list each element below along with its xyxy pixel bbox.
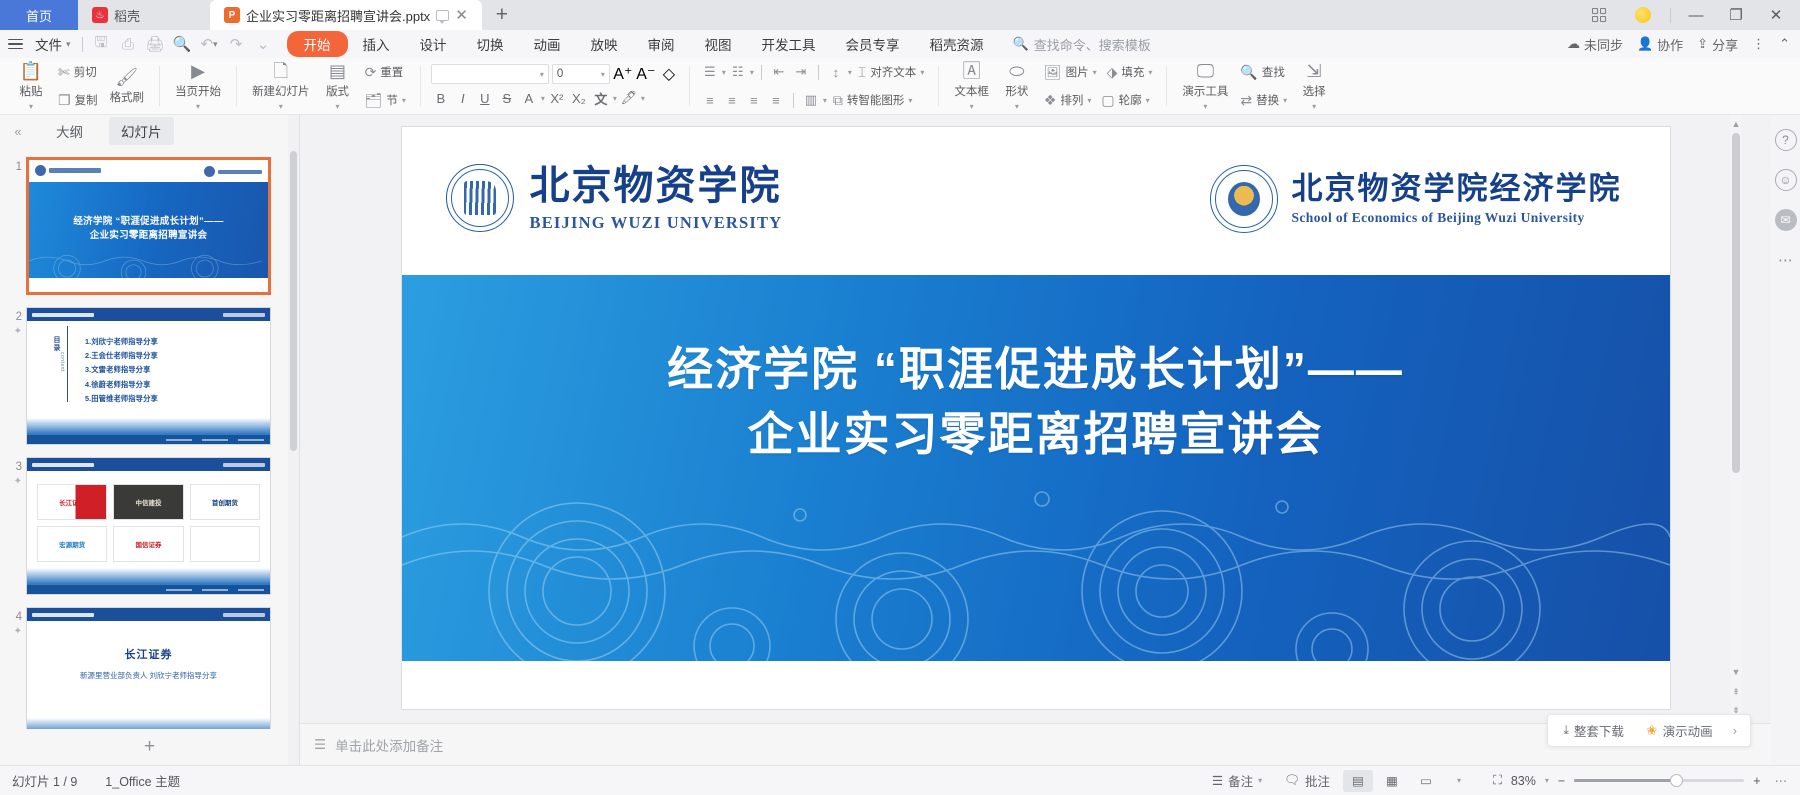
- align-text-icon: ⌶: [858, 65, 866, 79]
- slide-number: 1: [4, 157, 22, 295]
- undo-icon[interactable]: ↶▾: [196, 32, 223, 56]
- slide-thumbnail[interactable]: 目录 content 1.刘欣宁老师指导分享 2.王会仕老师指导分享 3.文雷老…: [26, 307, 271, 445]
- window-tab-bar: 首页 ♨ 稻壳 P 企业实习零距离招聘宣讲会.pptx ✕ + — ❐ ✕: [0, 0, 1800, 30]
- search-icon: 🔍: [1013, 36, 1029, 52]
- superscript-button[interactable]: X²: [547, 88, 567, 108]
- command-search-placeholder: 查找命令、搜索模板: [1034, 35, 1151, 54]
- scrollbar-thumb[interactable]: [1732, 133, 1740, 473]
- section-title: 长江证券: [27, 646, 270, 662]
- zoom-value: 83%: [1511, 774, 1536, 788]
- company-logo: 中信建投: [113, 484, 183, 520]
- account-avatar-icon[interactable]: [1621, 0, 1665, 30]
- font-controls: ▾ 0 ▾ A⁺ A⁻ ◇ B I U S A▾ X² X₂: [431, 60, 679, 112]
- slide-thumbnail-panel: « 大纲 幻灯片 1: [0, 115, 300, 765]
- tab-home-label: 首页: [26, 6, 52, 25]
- toc-item: 2.王会仕老师指导分享: [85, 349, 270, 363]
- more-options-icon[interactable]: ⋮: [1752, 36, 1765, 52]
- font-name-input[interactable]: ▾: [431, 64, 549, 84]
- decrease-indent-icon[interactable]: ⇤: [769, 62, 789, 82]
- floating-slide-toolbar[interactable]: ⤓ 整套下载 ✬ 演示动画 ›: [1547, 714, 1751, 747]
- strikethrough-button[interactable]: S: [497, 88, 517, 108]
- notes-icon: ☰: [1212, 773, 1223, 788]
- shape-label: 形状: [1005, 83, 1028, 99]
- university-name-block: 北京物资学院 BEIJING WUZI UNIVERSITY: [530, 163, 783, 233]
- comment-bubble-icon[interactable]: [436, 10, 449, 21]
- slide-number: 4 ✦: [4, 607, 22, 729]
- file-menu-label: 文件: [35, 34, 62, 54]
- powerpoint-icon: P: [224, 7, 240, 23]
- window-controls: — ❐ ✕: [1577, 0, 1800, 30]
- chevron-down-icon[interactable]: ▾: [1545, 776, 1549, 785]
- thumb-title: 经济学院 “职涯促进成长计划”—— 企业实习零距离招聘宣讲会: [29, 215, 268, 244]
- ribbon-tab-slideshow[interactable]: 放映: [576, 31, 633, 57]
- slide-header: 北京物资学院 BEIJING WUZI UNIVERSITY 北京物资学院经济学…: [402, 127, 1670, 275]
- comment-icon: 🗨: [1284, 773, 1300, 788]
- restore-button[interactable]: ❐: [1716, 0, 1756, 30]
- ribbon-group-slideshow: ▶ 当页开始▾: [165, 59, 231, 114]
- command-search[interactable]: 🔍 查找命令、搜索模板: [1013, 35, 1151, 54]
- collaborate-icon: 👤: [1637, 36, 1653, 52]
- current-slide-canvas[interactable]: 北京物资学院 BEIJING WUZI UNIVERSITY 北京物资学院经济学…: [402, 127, 1670, 709]
- paste-icon: 📋: [20, 62, 42, 80]
- ribbon-group-paragraph: ☰▾ ☷▾ ⇤ ⇥ ↕▾ ⌶ 对齐文本▾ ≡ ≡ ≡ ≡: [695, 59, 933, 114]
- thumb-title-line1: 经济学院 “职涯促进成长计划”——: [29, 215, 268, 229]
- divider: [236, 66, 237, 106]
- university-logo-icon: [32, 613, 94, 617]
- arrange-icon: ❖: [1044, 93, 1057, 107]
- thumb-header: [29, 160, 268, 182]
- footer-bar: [27, 585, 270, 594]
- bullets-icon[interactable]: ☰: [700, 62, 720, 82]
- more-icon[interactable]: ⋯: [1775, 249, 1797, 271]
- layout-button[interactable]: ▤ 版式▾: [318, 60, 358, 112]
- align-center-icon[interactable]: ≡: [722, 90, 742, 110]
- outline-icon: ▢: [1101, 93, 1114, 107]
- find-replace-buttons: 🔍 查找 ⇄ 替换▾: [1236, 60, 1291, 112]
- outline-label: 轮廓: [1119, 92, 1142, 108]
- slide-title[interactable]: 经济学院 “职涯促进成长计划”—— 企业实习零距离招聘宣讲会: [402, 275, 1670, 468]
- cut-button[interactable]: ✄ 剪切: [54, 60, 102, 84]
- ribbon-group-drawing: 🄰 文本框▾ ⬭ 形状▾ 🖼 图片▾ ⬗ 填充▾: [944, 59, 1161, 114]
- comment-button[interactable]: 🗨 批注: [1273, 771, 1341, 790]
- ribbon-tab-docer-resources[interactable]: 稻壳资源: [915, 31, 999, 57]
- slide-number-value: 2: [16, 311, 22, 323]
- university-seal-icon: [446, 164, 514, 232]
- toc-item: 1.刘欣宁老师指导分享: [85, 335, 270, 349]
- smartart-label: 转智能图形: [847, 92, 905, 108]
- school-seal-icon: [1210, 165, 1278, 233]
- slide-number: 3 ✦: [4, 457, 22, 595]
- zoom-out-button[interactable]: −: [1558, 774, 1565, 788]
- copy-button[interactable]: ❐ 复制: [54, 88, 102, 112]
- thumb-header-bar: [27, 608, 270, 621]
- select-pointer-icon: ⇲: [1307, 62, 1322, 80]
- outline-button[interactable]: ▢ 轮廓▾: [1097, 88, 1153, 112]
- font-row: ▾ 0 ▾ A⁺ A⁻ ◇: [431, 64, 679, 84]
- slide-thumbnail[interactable]: 长江证券 新源里营业部负责人 刘欣宁老师指导分享: [26, 607, 271, 729]
- ribbon-tab-review[interactable]: 审阅: [633, 31, 690, 57]
- redo-icon[interactable]: ↷: [223, 32, 250, 56]
- reset-icon: ⟳: [365, 65, 377, 79]
- docer-icon: ♨: [92, 7, 108, 23]
- ribbon-group-tools: 🖵 演示工具▾ 🔍 查找 ⇄ 替换▾ ⇲ 选择▾: [1172, 59, 1339, 114]
- scissors-icon: ✄: [58, 65, 70, 79]
- school-logo: 北京物资学院经济学院 School of Economics of Beijin…: [1210, 165, 1622, 233]
- right-sidebar-rail: ? ☺ ✉ ⋯: [1771, 115, 1800, 765]
- replace-button[interactable]: ⇄ 替换▾: [1236, 88, 1291, 112]
- collapse-ribbon-icon[interactable]: ⌃: [1779, 36, 1790, 52]
- header-right-text: [223, 613, 265, 617]
- share-icon: ⇪: [1697, 36, 1708, 52]
- status-left: 幻灯片 1 / 9 1_Office 主题: [12, 771, 180, 790]
- animation-star-icon: ✦: [4, 475, 22, 489]
- reset-label: 重置: [380, 64, 403, 80]
- slide-thumbnail[interactable]: 经济学院 “职涯促进成长计划”—— 企业实习零距离招聘宣讲会: [26, 157, 271, 295]
- university-logo-icon: [32, 313, 94, 317]
- download-icon: ⤓: [1563, 723, 1569, 738]
- apps-grid-icon[interactable]: [1577, 0, 1621, 30]
- share-label: 分享: [1712, 35, 1738, 54]
- presentation-tools-icon: 🖵: [1197, 62, 1214, 80]
- presentation-tools-button[interactable]: 🖵 演示工具▾: [1177, 60, 1233, 112]
- thumb-title-line2: 企业实习零距离招聘宣讲会: [29, 229, 268, 243]
- download-full-set-button[interactable]: ⤓ 整套下载: [1552, 721, 1635, 740]
- divider: [420, 66, 421, 106]
- notes-toggle-button[interactable]: ☰ 备注 ▾: [1201, 771, 1273, 790]
- reset-button[interactable]: ⟳ 重置: [361, 60, 410, 84]
- play-circle-icon: ▶: [191, 62, 205, 80]
- thumb-banner: 经济学院 “职涯促进成长计划”—— 企业实习零距离招聘宣讲会: [29, 182, 268, 278]
- menu-bar: 文件 ▾ 🖫 ⎙ 🖨 🔍 ↶▾ ↷ ⌄ 开始 插入 设计 切换 动画 放映 审阅…: [0, 30, 1800, 58]
- university-name-en: BEIJING WUZI UNIVERSITY: [530, 213, 783, 233]
- sync-status-label: 未同步: [1584, 35, 1623, 54]
- section-subtitle: 新源里营业部负责人 刘欣宁老师指导分享: [27, 670, 270, 681]
- editor-body: « 大纲 幻灯片 1: [0, 115, 1800, 765]
- tab-outline[interactable]: 大纲: [44, 117, 95, 145]
- expand-toolbar-icon[interactable]: ›: [1724, 723, 1746, 738]
- slide-title-line2: 企业实习零距离招聘宣讲会: [402, 402, 1670, 467]
- service-icon[interactable]: ✉: [1775, 209, 1797, 231]
- search-icon: 🔍: [1240, 65, 1257, 79]
- previous-slide-button[interactable]: ⇞: [1730, 685, 1742, 699]
- ribbon-tab-animation[interactable]: 动画: [519, 31, 576, 57]
- align-left-icon[interactable]: ≡: [700, 90, 720, 110]
- sync-status[interactable]: ☁ 未同步: [1567, 35, 1623, 54]
- header-right-text: [223, 463, 265, 467]
- divider: [1166, 66, 1167, 106]
- cut-label: 剪切: [74, 64, 97, 80]
- shape-button[interactable]: ⬭ 形状▾: [997, 60, 1037, 112]
- ribbon-tab-view[interactable]: 视图: [690, 31, 747, 57]
- status-bar: 幻灯片 1 / 9 1_Office 主题 ☰ 备注 ▾ 🗨 批注 ▤ ▦ ▭ …: [0, 765, 1800, 795]
- italic-button[interactable]: I: [453, 88, 473, 108]
- layout-label: 版式: [326, 83, 349, 99]
- company-logo: 国信证券: [113, 526, 183, 562]
- font-size-value: 0: [557, 68, 563, 80]
- company-logo-grid: 长江证券 中信建投 首创期货 宏源期货 国信证券: [37, 484, 260, 562]
- thumbnail-item-3[interactable]: 3 ✦ 长江证券 中信建投 首创期货 宏源期货 国信证: [0, 451, 299, 601]
- align-row: ≡ ≡ ≡ ≡ ▥▾ ⧉ 转智能图形▾: [700, 88, 928, 112]
- list-row: ☰▾ ☷▾ ⇤ ⇥ ↕▾ ⌶ 对齐文本▾: [700, 60, 928, 84]
- align-justify-icon[interactable]: ≡: [766, 90, 786, 110]
- tab-document-label: 企业实习零距离招聘宣讲会.pptx: [246, 6, 430, 25]
- customize-quick-access-icon[interactable]: ⌄: [250, 32, 277, 56]
- company-logo: 宏源期货: [37, 526, 107, 562]
- ribbon-group-slides: 🗋 新建幻灯片▾ ▤ 版式▾ ⟳ 重置 🗂 节▾: [242, 59, 415, 114]
- print-icon[interactable]: 🖨: [142, 32, 169, 56]
- thumbnail-scrollbar[interactable]: [288, 115, 299, 765]
- ribbon-group-font: ▾ 0 ▾ A⁺ A⁻ ◇ B I U S A▾ X² X₂: [426, 59, 684, 114]
- slide-number: 2 ✦: [4, 307, 22, 445]
- align-right-icon[interactable]: ≡: [744, 90, 764, 110]
- divider: [67, 326, 68, 402]
- new-tab-button[interactable]: +: [482, 4, 522, 27]
- collapse-panel-icon[interactable]: «: [6, 117, 30, 145]
- minimize-button[interactable]: —: [1676, 0, 1716, 30]
- chevron-down-icon: ▾: [540, 70, 544, 79]
- bold-button[interactable]: B: [431, 88, 451, 108]
- drawing-row-1: 🖼 图片▾ ⬗ 填充▾: [1040, 60, 1157, 84]
- copy-icon: ❐: [58, 93, 71, 107]
- start-from-current-slide-button[interactable]: ▶ 当页开始▾: [170, 60, 226, 112]
- print-preview-icon[interactable]: 🔍: [169, 32, 196, 56]
- toc-label-cn: 目录: [51, 336, 61, 352]
- format-painter-icon: 🖌: [115, 68, 138, 86]
- cloud-sync-icon: ☁: [1567, 36, 1580, 52]
- panel-tabs: « 大纲 幻灯片: [0, 115, 299, 147]
- thumbnail-item-2[interactable]: 2 ✦ 目录 content 1.刘欣宁老师指导分享 2.王会仕: [0, 301, 299, 451]
- slide-number-value: 3: [16, 461, 22, 473]
- underline-button[interactable]: U: [475, 88, 495, 108]
- comment-btn-label: 批注: [1305, 771, 1330, 790]
- close-button[interactable]: ✕: [1756, 0, 1796, 30]
- help-icon[interactable]: ?: [1775, 129, 1797, 151]
- zoom-in-button[interactable]: +: [1753, 774, 1760, 788]
- smartart-icon: ⧉: [833, 93, 843, 107]
- tab-docer[interactable]: ♨ 稻壳: [78, 0, 210, 30]
- ribbon-tab-start[interactable]: 开始: [287, 31, 348, 57]
- tab-slides[interactable]: 幻灯片: [109, 117, 174, 145]
- section-icon: 🗂: [365, 93, 383, 107]
- find-button[interactable]: 🔍 查找: [1236, 60, 1291, 84]
- paste-button[interactable]: 📋 粘贴▾: [11, 60, 51, 112]
- close-tab-icon[interactable]: ✕: [455, 8, 468, 23]
- replace-label: 替换: [1256, 92, 1279, 108]
- line-spacing-icon[interactable]: ↕: [826, 62, 846, 82]
- animation-star-icon: ✦: [4, 625, 22, 639]
- copy-label: 复制: [75, 92, 98, 108]
- textbox-label: 文本框: [954, 83, 989, 99]
- ribbon-tabs: 开始 插入 设计 切换 动画 放映 审阅 视图 开发工具 会员专享 稻壳资源: [287, 31, 999, 57]
- university-logo-icon: [35, 165, 101, 176]
- slide-counter: 幻灯片 1 / 9: [12, 771, 77, 790]
- normal-view-button[interactable]: ▤: [1343, 770, 1373, 792]
- thumbnail-item-1[interactable]: 1: [0, 151, 299, 301]
- fill-icon: ⬗: [1107, 65, 1118, 79]
- ribbon-tab-design[interactable]: 设计: [405, 31, 462, 57]
- header-right-text: [223, 313, 265, 317]
- fill-button[interactable]: ⬗ 填充▾: [1103, 60, 1157, 84]
- footer-wave-graphic: [27, 718, 270, 729]
- wps-presentation-window: 首页 ♨ 稻壳 P 企业实习零距离招聘宣讲会.pptx ✕ + — ❐ ✕ 文件: [0, 0, 1800, 795]
- thumb-body: 经济学院 “职涯促进成长计划”—— 企业实习零距离招聘宣讲会: [29, 182, 268, 292]
- company-logo: 长江证券: [37, 484, 107, 520]
- numbering-icon[interactable]: ☷: [728, 62, 748, 82]
- ribbon-tab-insert[interactable]: 插入: [348, 31, 405, 57]
- save-icon[interactable]: 🖫: [88, 32, 115, 56]
- toc-item: 3.文雷老师指导分享: [85, 363, 270, 377]
- clear-format-icon[interactable]: ◇: [659, 64, 679, 84]
- footer-bar: [27, 435, 270, 444]
- highlight-icon[interactable]: 🖊: [619, 88, 639, 108]
- collaborate-label: 协作: [1657, 35, 1683, 54]
- arrange-button[interactable]: ❖ 排列▾: [1040, 88, 1096, 112]
- divider: [689, 66, 690, 106]
- align-text-button[interactable]: ⌶ 对齐文本▾: [854, 60, 928, 84]
- school-name-en: School of Economics of Beijing Wuzi Univ…: [1292, 210, 1622, 226]
- toc-item: 5.田管维老师指导分享: [85, 392, 270, 406]
- divider: [159, 66, 160, 106]
- add-slide-button[interactable]: +: [0, 729, 299, 765]
- find-label: 查找: [1262, 64, 1285, 80]
- university-logo-icon: [32, 463, 94, 467]
- star-icon: ✬: [1646, 722, 1658, 739]
- new-slide-label: 新建幻灯片: [252, 83, 310, 99]
- animation-star-icon: ✦: [4, 325, 22, 339]
- zoom-slider-knob[interactable]: [1670, 774, 1683, 787]
- notes-placeholder: 单击此处添加备注: [335, 735, 443, 755]
- company-logo: 首创期货: [190, 484, 260, 520]
- zoom-slider[interactable]: [1574, 779, 1744, 782]
- theme-name[interactable]: 1_Office 主题: [105, 771, 180, 790]
- thumbnail-list[interactable]: 1: [0, 147, 299, 729]
- divider: [938, 66, 939, 106]
- ribbon-toolbar: 📋 粘贴▾ ✄ 剪切 ❐ 复制 🖌 格式刷 ▶: [0, 58, 1800, 115]
- new-slide-button[interactable]: 🗋 新建幻灯片▾: [247, 60, 315, 112]
- school-name-cn: 北京物资学院经济学院: [1292, 172, 1622, 208]
- slide-thumbnail[interactable]: 长江证券 中信建投 首创期货 宏源期货 国信证券: [26, 457, 271, 595]
- replace-icon: ⇄: [1240, 93, 1252, 107]
- zoom-controls: ⛶ 83% ▾ − +: [1475, 773, 1760, 788]
- font-size-input[interactable]: 0 ▾: [552, 64, 610, 84]
- divider: [1670, 8, 1671, 23]
- format-painter-button[interactable]: 🖌 格式刷: [105, 60, 150, 112]
- ribbon-group-clipboard: 📋 粘贴▾ ✄ 剪切 ❐ 复制 🖌 格式刷: [6, 59, 154, 114]
- select-label: 选择: [1303, 83, 1326, 99]
- wave-pattern-icon: [402, 441, 1670, 661]
- download-label: 整套下载: [1574, 721, 1624, 740]
- presentation-animation-button[interactable]: ✬ 演示动画: [1635, 721, 1724, 740]
- notes-btn-label: 备注: [1228, 771, 1253, 790]
- notes-icon: ☰: [314, 737, 326, 753]
- paste-label: 粘贴: [20, 83, 43, 99]
- slide-number-value: 4: [16, 611, 22, 623]
- fit-to-window-icon[interactable]: ⛶: [1493, 773, 1502, 788]
- start-here-label: 当页开始: [175, 83, 221, 99]
- view-options-chevron-icon[interactable]: ▾: [1443, 776, 1475, 785]
- divider: [82, 37, 83, 52]
- company-logo: [190, 526, 260, 562]
- textbox-icon: 🄰: [963, 62, 981, 80]
- format-row: B I U S A▾ X² X₂ 文▾ 🖊▾: [431, 88, 679, 108]
- section-label: 节: [386, 92, 398, 108]
- reading-view-button[interactable]: ▭: [1411, 770, 1441, 792]
- status-more-icon[interactable]: ⋯: [1761, 773, 1789, 788]
- paragraph-controls: ☰▾ ☷▾ ⇤ ⇥ ↕▾ ⌶ 对齐文本▾ ≡ ≡ ≡ ≡: [700, 60, 928, 112]
- textbox-button[interactable]: 🄰 文本框▾: [949, 60, 994, 112]
- share-button[interactable]: ⇪ 分享: [1697, 35, 1738, 54]
- wave-pattern-icon: [29, 240, 262, 278]
- scroll-up-arrow[interactable]: ▲: [1730, 117, 1742, 131]
- tab-presentation-document[interactable]: P 企业实习零距离招聘宣讲会.pptx ✕: [210, 0, 482, 30]
- increase-font-size-button[interactable]: A⁺: [613, 64, 633, 84]
- slide-title-banner[interactable]: 经济学院 “职涯促进成长计划”—— 企业实习零距离招聘宣讲会: [402, 275, 1670, 661]
- slide-vertical-scrollbar[interactable]: ▲ ▼ ⇞ ⇟: [1730, 115, 1742, 723]
- drawing-small-buttons: 🖼 图片▾ ⬗ 填充▾ ❖ 排列▾ ▢ 轮廓▾: [1040, 60, 1157, 112]
- columns-icon[interactable]: ▥: [801, 90, 821, 110]
- select-button[interactable]: ⇲ 选择▾: [1294, 60, 1334, 112]
- picture-button[interactable]: 🖼 图片▾: [1040, 60, 1101, 84]
- chevron-down-icon: ▾: [1258, 776, 1262, 785]
- increase-indent-icon[interactable]: ⇥: [791, 62, 811, 82]
- university-logo: 北京物资学院 BEIJING WUZI UNIVERSITY: [446, 163, 783, 233]
- school-logo-icon: [204, 166, 262, 177]
- convert-to-smartart-button[interactable]: ⧉ 转智能图形▾: [829, 88, 917, 112]
- university-name-cn: 北京物资学院: [530, 163, 783, 209]
- ribbon-tab-member[interactable]: 会员专享: [831, 31, 915, 57]
- scroll-down-arrow[interactable]: ▼: [1730, 665, 1742, 679]
- section-button[interactable]: 🗂 节▾: [361, 88, 410, 112]
- character-shading-button[interactable]: 文: [591, 88, 611, 108]
- animation-label: 演示动画: [1663, 721, 1713, 740]
- presentation-tools-label: 演示工具: [1182, 83, 1228, 99]
- thumbnail-item-4[interactable]: 4 ✦ 长江证券 新源里营业部负责人 刘欣宁老师指导分享: [0, 601, 299, 729]
- thumb-header-bar: [27, 308, 270, 321]
- chevron-down-icon: ▾: [601, 70, 605, 79]
- tab-home[interactable]: 首页: [0, 0, 78, 30]
- menu-hamburger-icon[interactable]: [8, 39, 23, 50]
- collaborate-button[interactable]: 👤 协作: [1637, 35, 1683, 54]
- ribbon-tab-transition[interactable]: 切换: [462, 31, 519, 57]
- slide-title-line1: 经济学院 “职涯促进成长计划”——: [402, 337, 1670, 402]
- clipboard-small-buttons: ✄ 剪切 ❐ 复制: [54, 60, 102, 112]
- format-painter-label: 格式刷: [110, 89, 145, 105]
- tab-docer-label: 稻壳: [114, 6, 140, 25]
- toc-item: 4.徐蔚老师指导分享: [85, 378, 270, 392]
- ribbon-tab-developer[interactable]: 开发工具: [747, 31, 831, 57]
- feedback-icon[interactable]: ☺: [1775, 169, 1797, 191]
- scrollbar-thumb[interactable]: [290, 151, 297, 451]
- fill-label: 填充: [1121, 64, 1144, 80]
- font-color-button[interactable]: A: [519, 88, 539, 108]
- slide-sorter-view-button[interactable]: ▦: [1377, 770, 1407, 792]
- save-as-icon[interactable]: ⎙: [115, 32, 142, 56]
- menu-bar-right: ☁ 未同步 👤 协作 ⇪ 分享 ⋮ ⌃: [1567, 35, 1800, 54]
- shape-icon: ⬭: [1009, 62, 1024, 80]
- subscript-button[interactable]: X₂: [569, 88, 589, 108]
- file-menu[interactable]: 文件 ▾: [29, 34, 77, 54]
- slide-editing-stage[interactable]: 北京物资学院 BEIJING WUZI UNIVERSITY 北京物资学院经济学…: [300, 115, 1771, 765]
- school-name-block: 北京物资学院经济学院 School of Economics of Beijin…: [1292, 172, 1622, 227]
- picture-label: 图片: [1066, 64, 1089, 80]
- layout-icon: ▤: [329, 62, 346, 80]
- picture-icon: 🖼: [1044, 65, 1062, 79]
- decrease-font-size-button[interactable]: A⁻: [636, 64, 656, 84]
- status-right: ☰ 备注 ▾ 🗨 批注 ▤ ▦ ▭ ▾ ⛶ 83% ▾ − + ⋯: [1201, 770, 1788, 792]
- toc-label-en: content: [59, 352, 65, 372]
- drawing-row-2: ❖ 排列▾ ▢ 轮廓▾: [1040, 88, 1157, 112]
- slides-small-buttons: ⟳ 重置 🗂 节▾: [361, 60, 410, 112]
